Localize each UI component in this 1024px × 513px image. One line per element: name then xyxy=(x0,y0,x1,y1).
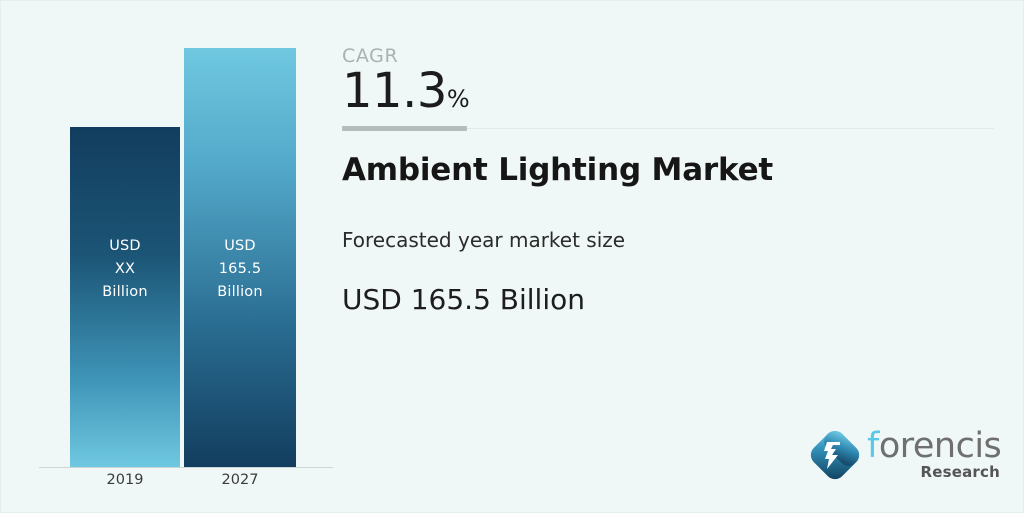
bar-2027-label-line2: 165.5 xyxy=(184,258,296,281)
section-divider xyxy=(342,126,994,131)
bar-2027-label: USD 165.5 Billion xyxy=(184,235,296,304)
bar-2019-label: USD XX Billion xyxy=(70,235,180,304)
market-infographic: USD XX Billion USD 165.5 Billion 2019 20… xyxy=(0,0,1024,513)
forencis-research-logo: forencis Research xyxy=(807,421,1002,489)
x-tick-2019: 2019 xyxy=(70,472,180,488)
cagr-number: 11.3 xyxy=(342,63,447,119)
cagr-value: 11.3% xyxy=(342,63,470,127)
bar-2019: USD XX Billion xyxy=(70,127,180,467)
bar-chart: USD XX Billion USD 165.5 Billion 2019 20… xyxy=(1,1,341,513)
bar-2019-label-line3: Billion xyxy=(70,281,180,304)
bar-2027-label-line1: USD xyxy=(184,235,296,258)
x-axis-tick-labels: 2019 2027 xyxy=(1,472,341,498)
forencis-diamond-icon xyxy=(807,427,863,483)
bars-container: USD XX Billion USD 165.5 Billion xyxy=(1,1,341,467)
logo-word-rest: orencis xyxy=(879,426,1001,466)
logo-word: forencis xyxy=(867,427,1001,465)
divider-accent-bar xyxy=(342,126,467,131)
logo-subtitle: Research xyxy=(920,463,1000,481)
forencis-wordmark: forencis Research xyxy=(867,427,1002,483)
cagr-percent-sign: % xyxy=(447,85,470,113)
bar-2019-label-line2: XX xyxy=(70,258,180,281)
x-axis-line xyxy=(39,467,333,468)
page-title: Ambient Lighting Market xyxy=(342,152,773,188)
x-tick-2027: 2027 xyxy=(184,472,296,488)
bar-2027: USD 165.5 Billion xyxy=(184,48,296,467)
forecast-subtitle: Forecasted year market size xyxy=(342,228,625,252)
forecast-value: USD 165.5 Billion xyxy=(342,283,585,316)
bar-2027-label-line3: Billion xyxy=(184,281,296,304)
bar-2019-label-line1: USD xyxy=(70,235,180,258)
logo-word-f: f xyxy=(867,426,879,466)
